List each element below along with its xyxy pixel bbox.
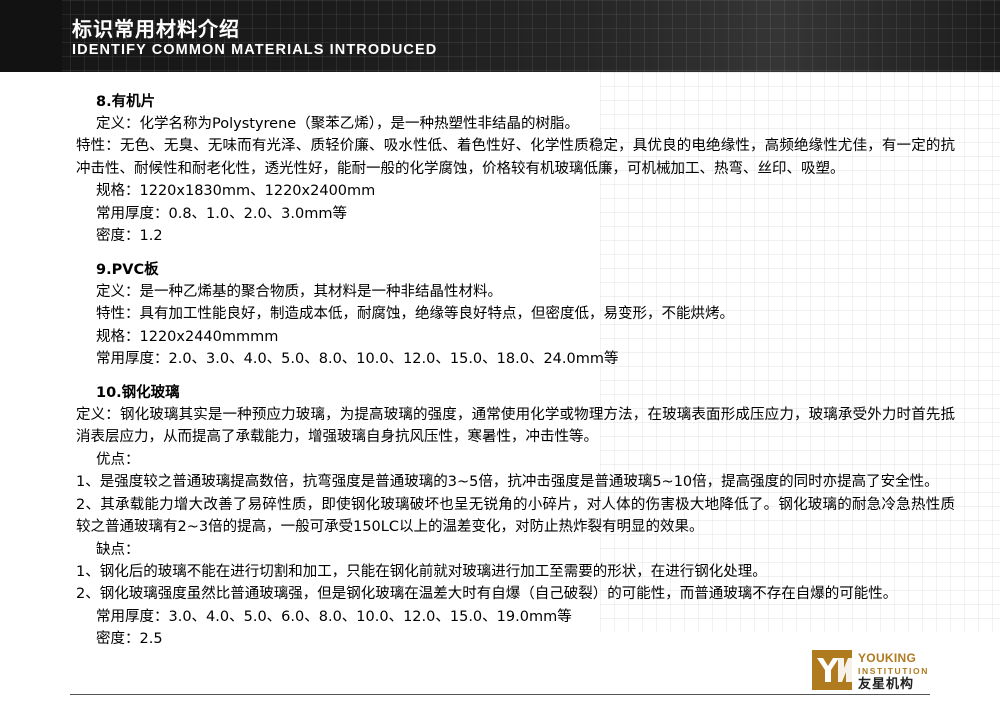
content-column: 8.有机片 定义：化学名称为Polystyrene（聚苯乙烯），是一种热塑性非结… [60,80,955,657]
section-paragraph: 常用厚度：0.8、1.0、2.0、3.0mm等 [96,203,955,225]
section-title: 10.钢化玻璃 [96,381,955,402]
section-paragraph: 2、其承载能力增大改善了易碎性质，即使钢化玻璃破坏也呈无锐角的小碎片，对人体的伤… [76,494,955,539]
section-paragraph: 优点： [96,449,955,471]
logo-english-name: YOUKING [858,652,929,666]
yk-monogram-icon [812,650,852,690]
section-paragraph: 缺点： [96,539,955,561]
section-paragraph: 规格：1220x1830mm、1220x2400mm [96,180,955,202]
section-paragraph: 定义：是一种乙烯基的聚合物质，其材料是一种非结晶性材料。 [96,281,955,303]
section-organic-sheet: 8.有机片 定义：化学名称为Polystyrene（聚苯乙烯），是一种热塑性非结… [60,90,955,248]
header-title-english: IDENTIFY COMMON MATERIALS INTRODUCED [72,42,437,58]
section-tempered-glass: 10.钢化玻璃 定义：钢化玻璃其实是一种预应力玻璃，为提高玻璃的强度，通常使用化… [60,381,955,651]
section-paragraph: 2、钢化玻璃强度虽然比普通玻璃强，但是钢化玻璃在温差大时有自爆（自己破裂）的可能… [76,583,955,605]
section-paragraph: 定义：化学名称为Polystyrene（聚苯乙烯），是一种热塑性非结晶的树脂。 [96,113,955,135]
section-paragraph: 定义：钢化玻璃其实是一种预应力玻璃，为提高玻璃的强度，通常使用化学或物理方法，在… [76,404,955,449]
section-title: 9.PVC板 [96,258,955,279]
section-paragraph: 密度：2.5 [96,628,955,650]
section-paragraph: 1、是强度较之普通玻璃提高数倍，抗弯强度是普通玻璃的3~5倍，抗冲击强度是普通玻… [76,471,955,493]
company-logo: YOUKING INSTITUTION 友星机构 [812,650,952,690]
header-left-block [0,0,62,72]
header-title-chinese: 标识常用材料介绍 [72,13,240,42]
section-pvc-board: 9.PVC板 定义：是一种乙烯基的聚合物质，其材料是一种非结晶性材料。 特性：具… [60,258,955,371]
slide-header: 标识常用材料介绍 IDENTIFY COMMON MATERIALS INTRO… [0,0,1000,72]
section-title: 8.有机片 [96,90,955,111]
section-paragraph: 规格：1220x2440mmmm [96,326,955,348]
logo-chinese-name: 友星机构 [858,677,929,693]
slide-body: 8.有机片 定义：化学名称为Polystyrene（聚苯乙烯），是一种热塑性非结… [0,72,1000,707]
section-paragraph: 特性：具有加工性能良好，制造成本低，耐腐蚀，绝缘等良好特点，但密度低，易变形，不… [96,303,955,325]
logo-wordmark: YOUKING INSTITUTION 友星机构 [858,652,929,692]
logo-english-sub: INSTITUTION [858,666,929,677]
footer-divider [70,694,930,695]
section-paragraph: 常用厚度：2.0、3.0、4.0、5.0、8.0、10.0、12.0、15.0、… [96,348,955,370]
section-paragraph: 密度：1.2 [96,225,955,247]
section-paragraph: 特性：无色、无臭、无味而有光泽、质轻价廉、吸水性低、着色性好、化学性质稳定，具优… [76,135,955,180]
slide-page: 标识常用材料介绍 IDENTIFY COMMON MATERIALS INTRO… [0,0,1000,707]
section-paragraph: 常用厚度：3.0、4.0、5.0、6.0、8.0、10.0、12.0、15.0、… [96,606,955,628]
section-paragraph: 1、钢化后的玻璃不能在进行切割和加工，只能在钢化前就对玻璃进行加工至需要的形状，… [76,561,955,583]
